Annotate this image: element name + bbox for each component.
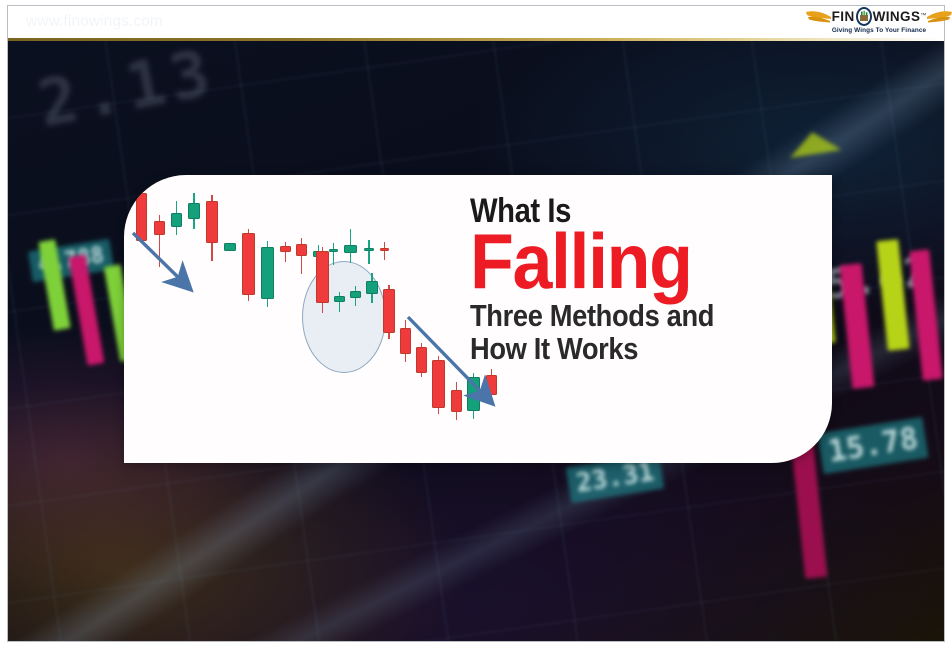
title-line-subtitle-1: Three Methods and (470, 300, 778, 332)
candle-bearish-pattern-end (383, 289, 395, 333)
candle-bearish (451, 390, 462, 412)
candle-bullish (329, 249, 338, 252)
candle-bearish (136, 193, 147, 241)
candle-bearish (400, 328, 411, 354)
candle-bullish-pattern-3 (366, 281, 378, 294)
candle-bullish (467, 377, 480, 411)
pattern-highlight-ellipse (302, 261, 386, 373)
title-line-falling: Falling (470, 226, 792, 298)
candlestick-chart (124, 175, 514, 463)
candle-bullish (188, 203, 200, 219)
candle-bearish (154, 221, 165, 235)
logo-orb-icon (856, 7, 872, 26)
candle-bearish (432, 360, 445, 408)
candle-bearish (296, 244, 307, 256)
candle-bearish (206, 201, 218, 243)
candle-bearish (416, 347, 427, 373)
logo-text-wings: WINGS (873, 9, 921, 24)
logo-text-fin: FIN (832, 9, 855, 24)
candle-bullish-pattern-2 (350, 291, 361, 298)
wing-left-icon (806, 9, 832, 24)
content-card: What Is Falling Three Methods and How It… (124, 175, 832, 463)
header-bar: www.finowings.com (8, 6, 944, 38)
candle-bearish (486, 375, 497, 395)
logo-tagline: Giving Wings To Your Finance (820, 27, 938, 34)
candle-bullish (224, 243, 236, 251)
title-block: What Is Falling Three Methods and How It… (470, 196, 820, 365)
candle-bearish (380, 248, 389, 251)
candle-bearish-pattern-start (316, 251, 329, 303)
header-gold-rule (8, 38, 944, 41)
brand-logo: FIN WINGS ™ Giving Wings To Your Finance (820, 6, 938, 40)
candle-bearish (242, 233, 255, 295)
candle-bullish (344, 245, 357, 253)
website-url: www.finowings.com (26, 13, 163, 31)
candle-bullish (364, 248, 374, 251)
wing-right-icon (926, 9, 952, 24)
candle-bullish (261, 247, 274, 299)
candle-bullish (171, 213, 182, 227)
candle-bullish-pattern-1 (334, 296, 345, 302)
title-line-subtitle-2: How It Works (470, 333, 778, 365)
poster-stage: 2.13 5.42 4.788 15.78 23.31 (0, 0, 952, 649)
candle-bearish (280, 246, 291, 252)
